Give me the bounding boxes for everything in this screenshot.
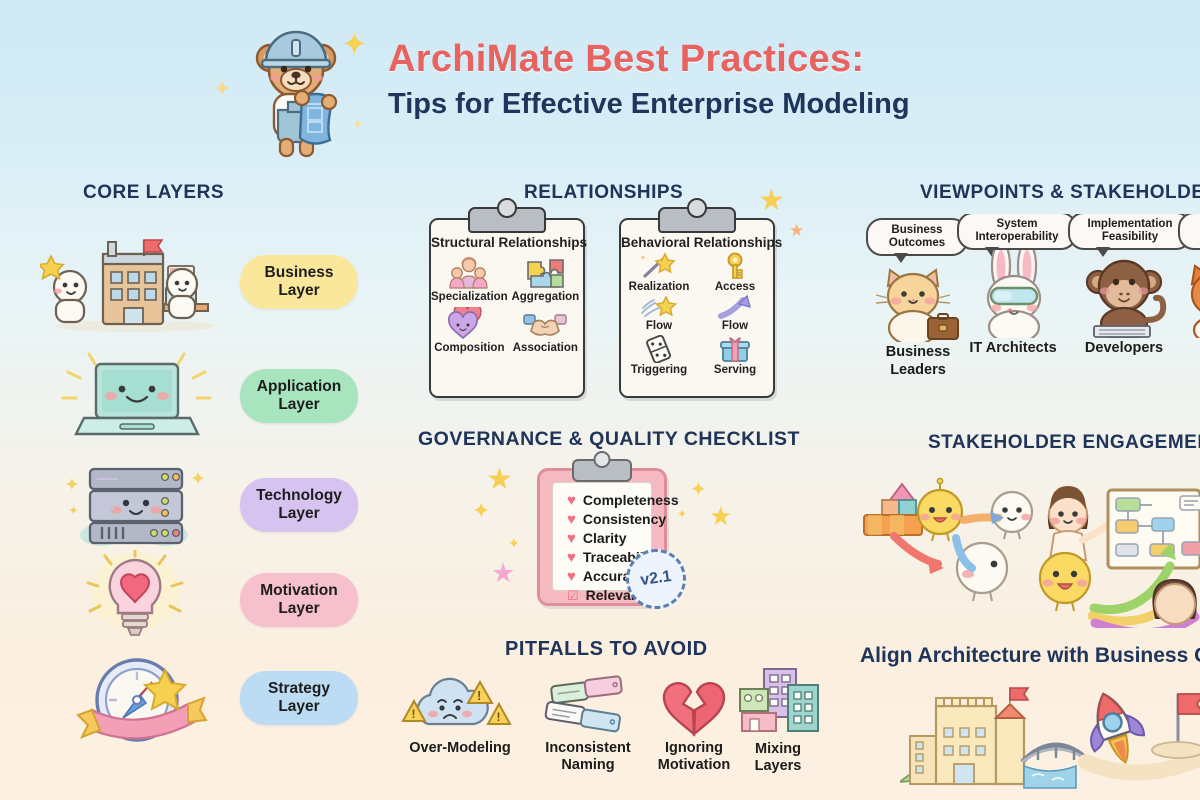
stakeholder-name-line1: Developers: [1068, 340, 1180, 356]
layer-row-strategy[interactable]: Strategy Layer: [40, 648, 358, 748]
sparkle-icon: ✦: [677, 508, 687, 520]
layer-label-line1: Motivation: [253, 582, 345, 600]
bubble-line1: Implementation: [1076, 218, 1184, 231]
checklist-item[interactable]: ♥ Completeness: [567, 492, 651, 508]
layer-row-technology[interactable]: ✦ ✦ ✦ Technology Layer: [40, 455, 358, 555]
heart-icon: ♥: [567, 550, 576, 565]
layer-label-line1: Technology: [253, 487, 345, 505]
clipboard-title: Structural Relationships: [431, 235, 583, 250]
cat-with-briefcase-icon: [866, 256, 970, 342]
heart-icon: ♥: [567, 493, 576, 508]
viewpoint-bubble: S A: [1178, 214, 1200, 250]
clipboard-ring-icon: [594, 451, 611, 468]
page-title: ArchiMate Best Practices:: [388, 38, 864, 81]
pitfall-label: Over-Modeling: [400, 740, 520, 757]
checklist-item[interactable]: ♥ Consistency: [567, 511, 651, 527]
stakeholder-row: Business Outcomes: [863, 214, 1200, 389]
layer-pill-business[interactable]: Business Layer: [240, 255, 358, 309]
bubble-line2: Feasibility: [1076, 231, 1184, 244]
relationship-label: Access: [697, 281, 773, 293]
section-heading-relationships: RELATIONSHIPS: [524, 182, 683, 204]
key-icon: [697, 252, 773, 280]
clipboard-ring-icon: [497, 198, 517, 218]
pitfall-label-line2: Naming: [528, 757, 648, 774]
relationship-item-triggering[interactable]: Triggering: [621, 335, 697, 376]
stakeholder-it-architects[interactable]: System Interoperability: [957, 214, 1069, 356]
domino-icon: [621, 335, 697, 363]
section-heading-viewpoints: VIEWPOINTS & STAKEHOLDERS: [920, 182, 1200, 204]
svg-text:✦: ✦: [640, 254, 646, 262]
section-heading-alignment: Align Architecture with Business G: [860, 644, 1200, 668]
layer-label-line1: Strategy: [253, 680, 345, 698]
viewpoint-bubble: Business Outcomes: [866, 218, 968, 256]
star-icon: ★: [789, 222, 804, 239]
relationship-label: Triggering: [621, 364, 697, 376]
two-hearts-icon: [431, 307, 508, 341]
relationship-label: Aggregation: [508, 291, 583, 303]
svg-text:✦: ✦: [190, 469, 206, 490]
stakeholder-developers[interactable]: Implementation Feasibility: [1068, 214, 1180, 356]
clipboard-structural-relationships[interactable]: Structural Relationships Specialization: [429, 218, 585, 398]
pitfall-inconsistent-naming[interactable]: Inconsistent Naming: [528, 668, 648, 773]
compass-with-ribbon-and-star-icon: [40, 648, 230, 748]
star-icon: ★: [486, 465, 513, 495]
checklist-label: Consistency: [583, 511, 666, 527]
sparkle-icon: ✦: [690, 480, 707, 500]
relationship-item-access[interactable]: Access: [697, 252, 773, 293]
smiling-server-rack-icon: ✦ ✦ ✦: [40, 455, 230, 555]
section-heading-core-layers: CORE LAYERS: [83, 182, 224, 204]
bubble-line1: Business: [874, 224, 960, 237]
bubble-line2: Interoperability: [965, 231, 1069, 244]
pitfall-over-modeling[interactable]: ! ! ! Over-Modeling: [400, 668, 520, 757]
shooting-star-icon: [621, 295, 697, 319]
relationship-item-composition[interactable]: Composition: [431, 307, 508, 354]
heart-icon: ♥: [567, 531, 576, 546]
layer-pill-strategy[interactable]: Strategy Layer: [240, 671, 358, 725]
pitfall-label-line1: Inconsistent: [528, 740, 648, 757]
sparkle-icon: ✦: [351, 118, 364, 134]
layer-label-line1: Business: [253, 264, 345, 282]
bubble-line1: System: [965, 218, 1069, 231]
pitfall-mixing-layers[interactable]: Mixing Layers: [726, 663, 830, 774]
clipboard-ring-icon: [687, 198, 707, 218]
rabbit-with-goggles-icon: [957, 250, 1069, 338]
checklist-label: Clarity: [583, 530, 627, 546]
layer-pill-technology[interactable]: Technology Layer: [240, 478, 358, 532]
puzzle-pieces-icon: [508, 256, 583, 290]
layer-pill-application[interactable]: Application Layer: [240, 369, 358, 423]
sad-cloud-with-warning-signs-icon: ! ! !: [400, 668, 520, 740]
smiling-laptop-icon: [40, 346, 230, 446]
governance-checklist-board[interactable]: ♥ Completeness ♥ Consistency ♥ Clarity ♥…: [537, 468, 667, 606]
layer-label-line2: Layer: [253, 282, 345, 300]
heart-icon: ♥: [567, 512, 576, 527]
star-icon: ★: [491, 560, 515, 587]
heart-icon: ♥: [567, 569, 576, 584]
svg-text:✦: ✦: [64, 475, 80, 496]
magic-wand-icon: ✦: [621, 252, 697, 280]
relationship-label: Realization: [621, 281, 697, 293]
layer-label-line2: Layer: [253, 396, 345, 414]
relationship-label: Flow: [621, 320, 697, 332]
stakeholder-managers[interactable]: S A Mana: [1178, 214, 1200, 356]
fox-icon: [1178, 250, 1200, 338]
relationship-item-serving[interactable]: Serving: [697, 335, 773, 376]
sparkle-icon: ✦: [508, 536, 520, 550]
section-heading-engagement: STAKEHOLDER ENGAGEMENT: [928, 432, 1200, 454]
svg-text:!: !: [412, 707, 416, 721]
relationship-item-aggregation[interactable]: Aggregation: [508, 256, 583, 303]
layer-pill-motivation[interactable]: Motivation Layer: [240, 573, 358, 627]
mixed-buildings-icon: [726, 663, 830, 741]
stakeholder-name-line1: Business: [866, 344, 970, 360]
checklist-item[interactable]: ♥ Clarity: [567, 530, 651, 546]
svg-text:!: !: [497, 710, 501, 724]
relationship-label: Composition: [431, 342, 508, 354]
relationship-label: Specialization: [431, 291, 508, 303]
bubble-line1: S: [1186, 218, 1200, 231]
star-icon: ★: [758, 186, 785, 216]
gift-box-icon: [697, 335, 773, 363]
section-heading-pitfalls: PITFALLS TO AVOID: [505, 638, 708, 661]
mismatched-labels-icon: [528, 668, 648, 740]
pitfall-label-line1: Mixing: [726, 741, 830, 758]
clipboard-title: Behavioral Relationships: [621, 235, 773, 250]
relationship-label: Association: [508, 342, 583, 354]
handshake-icon: [508, 307, 583, 341]
page-subtitle: Tips for Effective Enterprise Modeling: [388, 88, 910, 121]
pitfall-label-line2: Layers: [726, 758, 830, 775]
people-collaborating-with-whiteboard-icon: [860, 468, 1200, 628]
bubble-line2: A: [1186, 231, 1200, 244]
stakeholder-name-line1: IT Architects: [957, 340, 1069, 356]
layer-row-business[interactable]: Business Layer: [40, 232, 358, 332]
svg-text:✦: ✦: [68, 503, 79, 518]
relationship-label: Flow: [697, 320, 773, 332]
bear-architect-with-blueprint-icon: [236, 22, 356, 162]
checklist-label: Completeness: [583, 492, 679, 508]
sparkle-icon: ✦: [341, 28, 368, 60]
layer-label-line1: Application: [253, 378, 345, 396]
clipboard-behavioral-relationships[interactable]: Behavioral Relationships ✦ Realization: [619, 218, 775, 398]
layer-row-application[interactable]: Application Layer: [40, 346, 358, 446]
stakeholder-name-line1: Mana: [1178, 340, 1200, 356]
layer-row-motivation[interactable]: Motivation Layer: [40, 550, 358, 650]
relationship-item-flow-2[interactable]: Flow: [697, 295, 773, 332]
office-building-with-people-icon: [40, 232, 230, 332]
sparkle-icon: ✦: [213, 78, 231, 100]
castle-bridge-rocket-journey-icon: [900, 680, 1200, 800]
viewpoint-bubble: Implementation Feasibility: [1068, 214, 1192, 250]
checked-box-icon[interactable]: ☑: [567, 589, 579, 602]
svg-text:!: !: [477, 688, 481, 703]
layer-label-line2: Layer: [253, 698, 345, 716]
viewpoint-bubble: System Interoperability: [957, 214, 1077, 250]
sparkle-icon: ✦: [472, 500, 490, 522]
relationship-label: Serving: [697, 364, 773, 376]
stakeholder-business-leaders[interactable]: Business Outcomes: [866, 218, 970, 378]
purple-arrow-icon: [697, 295, 773, 319]
star-icon: ★: [709, 503, 732, 529]
relationship-item-association[interactable]: Association: [508, 307, 583, 354]
stakeholder-name-line2: Leaders: [866, 362, 970, 378]
layer-label-line2: Layer: [253, 505, 345, 523]
lightbulb-with-heart-icon: [40, 550, 230, 650]
infographic-canvas: ✦ ✦ ✦ ArchiMate Best Practices: Tips for…: [0, 0, 1200, 800]
bubble-line2: Outcomes: [874, 237, 960, 250]
relationship-item-specialization[interactable]: Specialization: [431, 256, 508, 303]
monkey-at-keyboard-icon: [1068, 250, 1180, 338]
section-heading-governance: GOVERNANCE & QUALITY CHECKLIST: [418, 428, 800, 451]
layer-label-line2: Layer: [253, 600, 345, 618]
relationship-item-realization[interactable]: ✦ Realization: [621, 252, 697, 293]
family-group-icon: [431, 256, 508, 290]
relationship-item-flow-1[interactable]: Flow: [621, 295, 697, 332]
